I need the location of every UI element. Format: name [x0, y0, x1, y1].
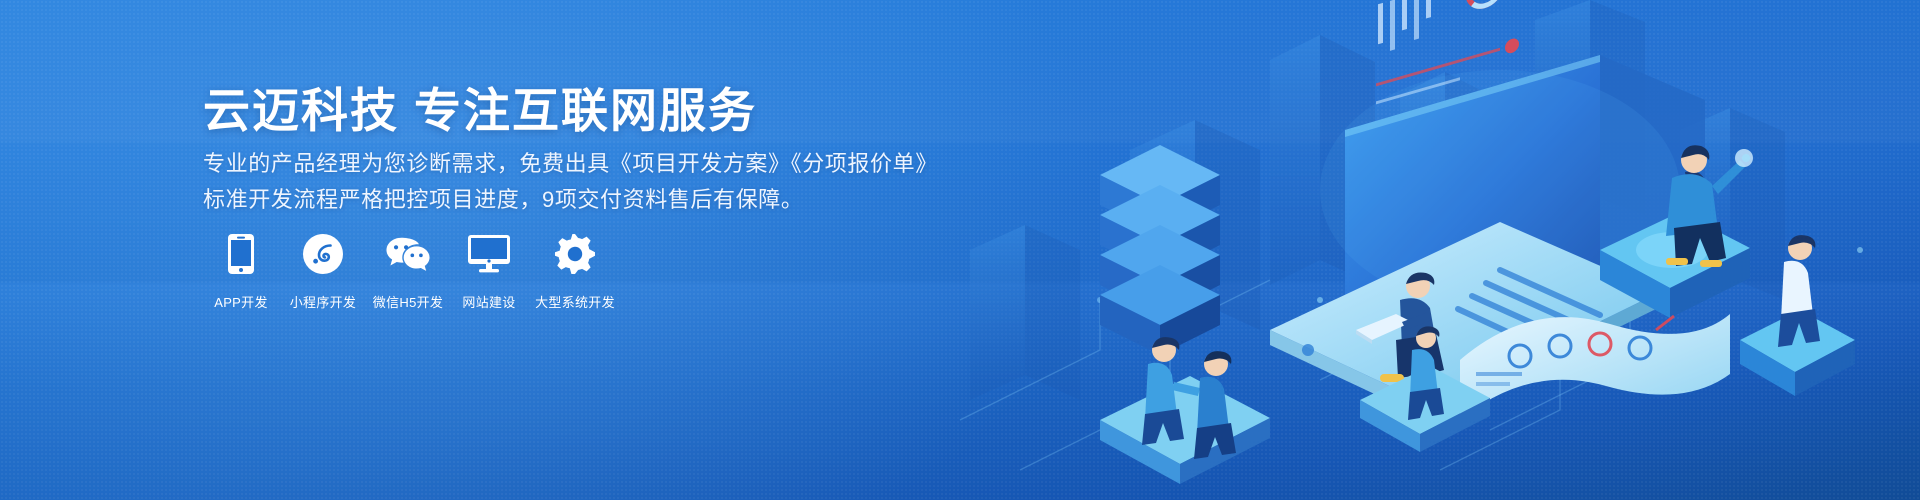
server-stack [1100, 145, 1220, 355]
hero-banner: 云迈科技 专注互联网服务 专业的产品经理为您诊断需求，免费出具《项目开发方案》《… [0, 0, 1920, 500]
mini-program-icon [301, 232, 345, 276]
subtitle-line-1: 专业的产品经理为您诊断需求，免费出具《项目开发方案》《分项报价单》 [203, 146, 938, 178]
service-label: APP开发 [214, 292, 268, 311]
service-item-wechat-h5[interactable]: 微信H5开发 [365, 232, 451, 311]
service-item-app[interactable]: APP开发 [205, 232, 277, 311]
page-title: 云迈科技 专注互联网服务 [203, 72, 757, 141]
wechat-icon [386, 232, 430, 276]
mobile-phone-icon [219, 232, 263, 276]
person-pair-discussing [1100, 337, 1270, 484]
subtitle-line-2: 标准开发流程严格把控项目进度，9项交付资料售后有保障。 [203, 182, 803, 214]
service-label: 网站建设 [462, 292, 515, 311]
service-list: APP开发 小程序开发 [205, 232, 623, 311]
service-label: 大型系统开发 [535, 292, 615, 311]
gear-icon [553, 232, 597, 276]
service-item-miniprogram[interactable]: 小程序开发 [281, 232, 365, 311]
banner-content: 云迈科技 专注互联网服务 专业的产品经理为您诊断需求，免费出具《项目开发方案》《… [0, 0, 960, 500]
service-item-website[interactable]: 网站建设 [451, 232, 527, 311]
isometric-tech-illustration [800, 0, 1920, 500]
monitor-icon [467, 232, 511, 276]
service-label: 小程序开发 [290, 292, 357, 311]
service-label: 微信H5开发 [373, 292, 443, 311]
service-item-large-system[interactable]: 大型系统开发 [527, 232, 623, 311]
